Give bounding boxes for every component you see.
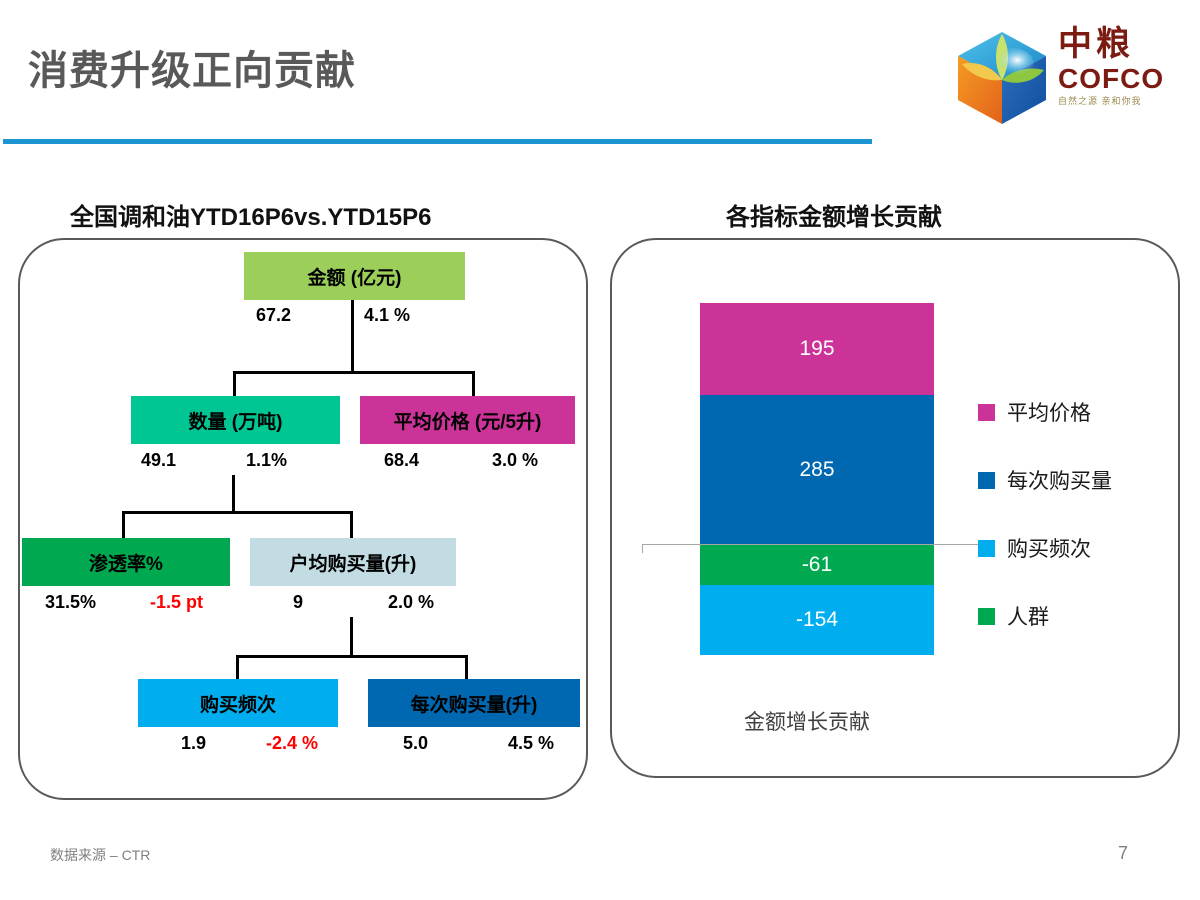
tree-values-purchase-frequency: 1.9 -2.4 %	[181, 733, 381, 754]
tree-node-penetration[interactable]: 渗透率%	[22, 538, 230, 586]
tree-connector-hh-stem	[350, 617, 353, 658]
tree-values-avg-price: 68.4 3.0 %	[384, 450, 584, 471]
tree-value-volume-per-trip: 5.0	[403, 733, 508, 754]
tree-values-penetration: 31.5% -1.5 pt	[45, 592, 245, 613]
bar-label-purchase-frequency: -154	[796, 608, 838, 632]
legend-item-volume-per-trip[interactable]: 每次购买量	[978, 446, 1168, 514]
tree-node-avg-price-label: 平均价格 (元/5升)	[394, 407, 542, 434]
logo-chinese-name: 中粮	[1058, 24, 1182, 64]
logo-tagline: 自然之源 亲和你我	[1058, 94, 1182, 108]
tree-change-household-volume: 2.0 %	[388, 592, 434, 613]
tree-value-avg-price: 68.4	[384, 450, 492, 471]
tree-node-volume-per-trip-label: 每次购买量(升)	[411, 690, 538, 717]
legend-label-avg-price: 平均价格	[1007, 397, 1091, 427]
tree-connector-volume-stem	[232, 475, 235, 514]
title-divider	[3, 139, 872, 144]
tree-node-household-volume[interactable]: 户均购买量(升)	[250, 538, 456, 586]
right-panel-title: 各指标金额增长贡献	[716, 203, 952, 233]
cofco-cube-icon	[950, 26, 1054, 130]
tree-node-volume-per-trip[interactable]: 每次购买量(升)	[368, 679, 580, 727]
legend-label-population: 人群	[1007, 601, 1049, 631]
bar-label-population: -61	[802, 553, 832, 577]
tree-value-amount: 67.2	[256, 305, 364, 326]
tree-connector-pen-drop	[122, 511, 125, 538]
tree-change-amount: 4.1 %	[364, 305, 410, 326]
page-number: 7	[1118, 843, 1128, 864]
tree-connector-hh-drop	[350, 511, 353, 538]
tree-connector-price-drop	[472, 371, 475, 396]
tree-change-penetration: -1.5 pt	[150, 592, 203, 613]
tree-node-purchase-frequency-label: 购买频次	[200, 690, 276, 717]
tree-node-volume-label: 数量 (万吨)	[189, 407, 283, 434]
source-note: 数据来源 – CTR	[50, 845, 150, 865]
tree-change-purchase-frequency: -2.4 %	[266, 733, 318, 754]
tree-values-volume: 49.1 1.1%	[141, 450, 341, 471]
tree-connector-hh-bar	[236, 655, 468, 658]
tree-change-volume: 1.1%	[246, 450, 287, 471]
tree-change-volume-per-trip: 4.5 %	[508, 733, 554, 754]
tree-connector-volume-bar	[122, 511, 353, 514]
tree-value-volume: 49.1	[141, 450, 246, 471]
tree-values-household-volume: 9 2.0 %	[293, 592, 493, 613]
bar-label-avg-price: 195	[799, 337, 834, 361]
legend-swatch-volume-per-trip	[978, 472, 995, 489]
legend-item-population[interactable]: 人群	[978, 582, 1168, 650]
page-title: 消费升级正向贡献	[28, 38, 356, 96]
tree-node-purchase-frequency[interactable]: 购买频次	[138, 679, 338, 727]
chart-legend: 平均价格 每次购买量 购买频次 人群	[978, 378, 1168, 650]
tree-connector-freq-drop	[236, 655, 239, 679]
cofco-logo: 中粮 COFCO 自然之源 亲和你我	[950, 22, 1182, 132]
tree-values-volume-per-trip: 5.0 4.5 %	[403, 733, 603, 754]
tree-connector-amount-bar	[233, 371, 475, 374]
legend-label-volume-per-trip: 每次购买量	[1007, 465, 1112, 495]
tree-change-avg-price: 3.0 %	[492, 450, 538, 471]
tree-value-purchase-frequency: 1.9	[181, 733, 266, 754]
legend-swatch-avg-price	[978, 404, 995, 421]
zero-axis-line	[642, 544, 990, 545]
slide-canvas: 消费升级正向贡献	[0, 0, 1200, 900]
bar-segment-avg-price[interactable]: 195	[700, 303, 934, 395]
tree-node-volume[interactable]: 数量 (万吨)	[131, 396, 340, 444]
legend-item-purchase-frequency[interactable]: 购买频次	[978, 514, 1168, 582]
tree-connector-volume-drop	[233, 371, 236, 396]
bar-label-volume-per-trip: 285	[799, 458, 834, 482]
chart-x-axis-label: 金额增长贡献	[744, 706, 870, 736]
tree-node-amount[interactable]: 金额 (亿元)	[244, 252, 465, 300]
tree-value-household-volume: 9	[293, 592, 388, 613]
left-panel-title: 全国调和油YTD16P6vs.YTD15P6	[60, 203, 441, 233]
tree-node-penetration-label: 渗透率%	[89, 549, 163, 576]
tree-value-penetration: 31.5%	[45, 592, 150, 613]
legend-item-avg-price[interactable]: 平均价格	[978, 378, 1168, 446]
bar-segment-volume-per-trip[interactable]: 285	[700, 395, 934, 544]
zero-axis-tick-left	[642, 544, 643, 553]
legend-swatch-population	[978, 608, 995, 625]
legend-swatch-purchase-frequency	[978, 540, 995, 557]
tree-node-avg-price[interactable]: 平均价格 (元/5升)	[360, 396, 575, 444]
logo-english-name: COFCO	[1058, 64, 1182, 94]
tree-node-household-volume-label: 户均购买量(升)	[290, 549, 417, 576]
tree-node-amount-label: 金额 (亿元)	[308, 263, 402, 290]
bar-segment-purchase-frequency[interactable]: -154	[700, 585, 934, 655]
tree-values-amount: 67.2 4.1 %	[256, 305, 466, 326]
tree-connector-trip-drop	[465, 655, 468, 679]
logo-wordmark: 中粮 COFCO 自然之源 亲和你我	[1058, 24, 1182, 108]
bar-segment-population[interactable]: -61	[700, 544, 934, 585]
legend-label-purchase-frequency: 购买频次	[1007, 533, 1091, 563]
